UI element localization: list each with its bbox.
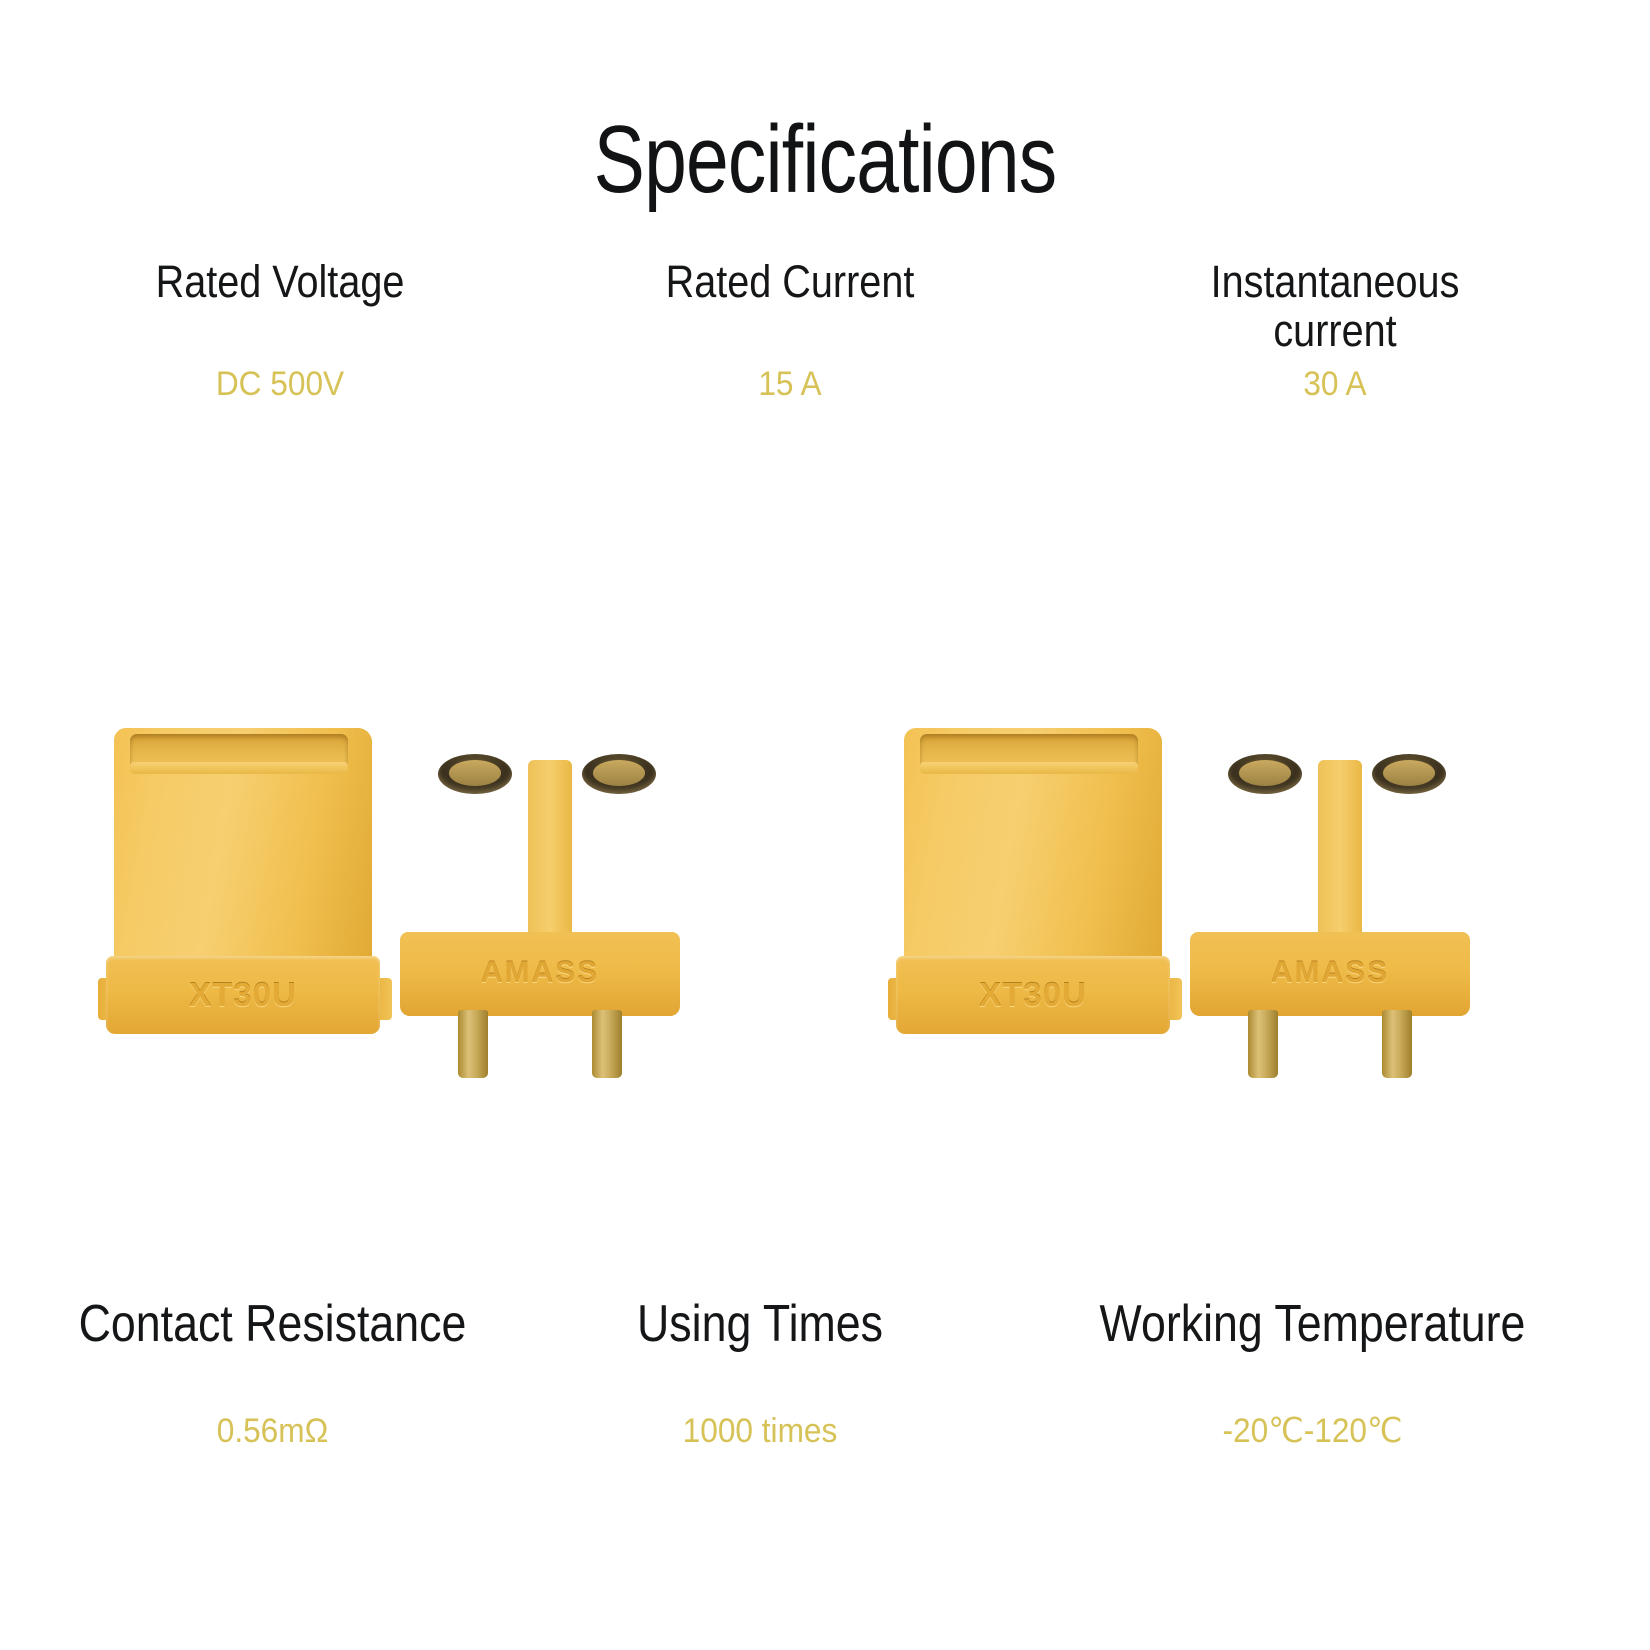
spec-cell-contact-resistance: Contact Resistance 0.56mΩ — [0, 1296, 545, 1448]
spec-row-top: Rated Voltage DC 500V Rated Current 15 A… — [0, 258, 1650, 401]
connector-cavity-lip — [920, 762, 1138, 774]
spec-label: Using Times — [575, 1296, 945, 1352]
female-marking-text: AMASS — [1190, 956, 1470, 990]
socket-contact-ring — [593, 760, 645, 786]
spec-label: Working Temperature — [1022, 1296, 1603, 1352]
spec-label: Contact Resistance — [38, 1296, 507, 1352]
spec-value: 15 A — [576, 367, 1004, 401]
female-connector-left: AMASS — [400, 746, 680, 1026]
male-connector-right: XT30U — [890, 728, 1162, 1023]
male-marking-text: XT30U — [896, 976, 1170, 1014]
socket-contact-ring — [1239, 760, 1291, 786]
spec-value: 1000 times — [560, 1414, 960, 1448]
connector-pin — [1248, 1010, 1278, 1078]
spec-label: Rated Voltage — [34, 258, 527, 307]
spec-cell-instantaneous-current: Instantaneous current 30 A — [1020, 258, 1650, 401]
spec-label: Instantaneous current — [1058, 258, 1612, 355]
socket-barrels — [1212, 746, 1462, 946]
female-connector-right: AMASS — [1190, 746, 1470, 1026]
connector-pin — [976, 1028, 1006, 1096]
connector-pin — [1082, 1028, 1112, 1096]
product-photo: XT30U AMASS — [0, 700, 1650, 1120]
female-marking-text: AMASS — [400, 956, 680, 990]
specifications-page: Specifications Rated Voltage DC 500V Rat… — [0, 0, 1650, 1650]
male-marking-text: XT30U — [106, 976, 380, 1014]
spec-value: -20℃-120℃ — [999, 1414, 1627, 1448]
spec-cell-using-times: Using Times 1000 times — [545, 1296, 975, 1448]
connector-pin — [186, 1028, 216, 1096]
connector-pair-right: XT30U AMASS — [890, 700, 1510, 1120]
spec-value: 30 A — [1042, 367, 1628, 401]
spec-cell-working-temperature: Working Temperature -20℃-120℃ — [975, 1296, 1650, 1448]
socket-contact-ring — [1383, 760, 1435, 786]
page-title: Specifications — [165, 112, 1485, 208]
male-connector-left: XT30U — [100, 728, 372, 1023]
spec-value: DC 500V — [20, 367, 541, 401]
spec-cell-rated-current: Rated Current 15 A — [560, 258, 1020, 401]
spec-label: Rated Current — [588, 258, 993, 307]
spec-cell-rated-voltage: Rated Voltage DC 500V — [0, 258, 560, 401]
connector-pair-left: XT30U AMASS — [100, 700, 720, 1120]
spec-row-bottom: Contact Resistance 0.56mΩ Using Times 10… — [0, 1296, 1650, 1448]
connector-pin — [592, 1010, 622, 1078]
spec-value: 0.56mΩ — [19, 1414, 526, 1448]
connector-pin — [1382, 1010, 1412, 1078]
connector-cavity-lip — [130, 762, 348, 774]
socket-barrels — [422, 746, 672, 946]
socket-contact-ring — [449, 760, 501, 786]
connector-pin — [458, 1010, 488, 1078]
connector-pin — [292, 1028, 322, 1096]
